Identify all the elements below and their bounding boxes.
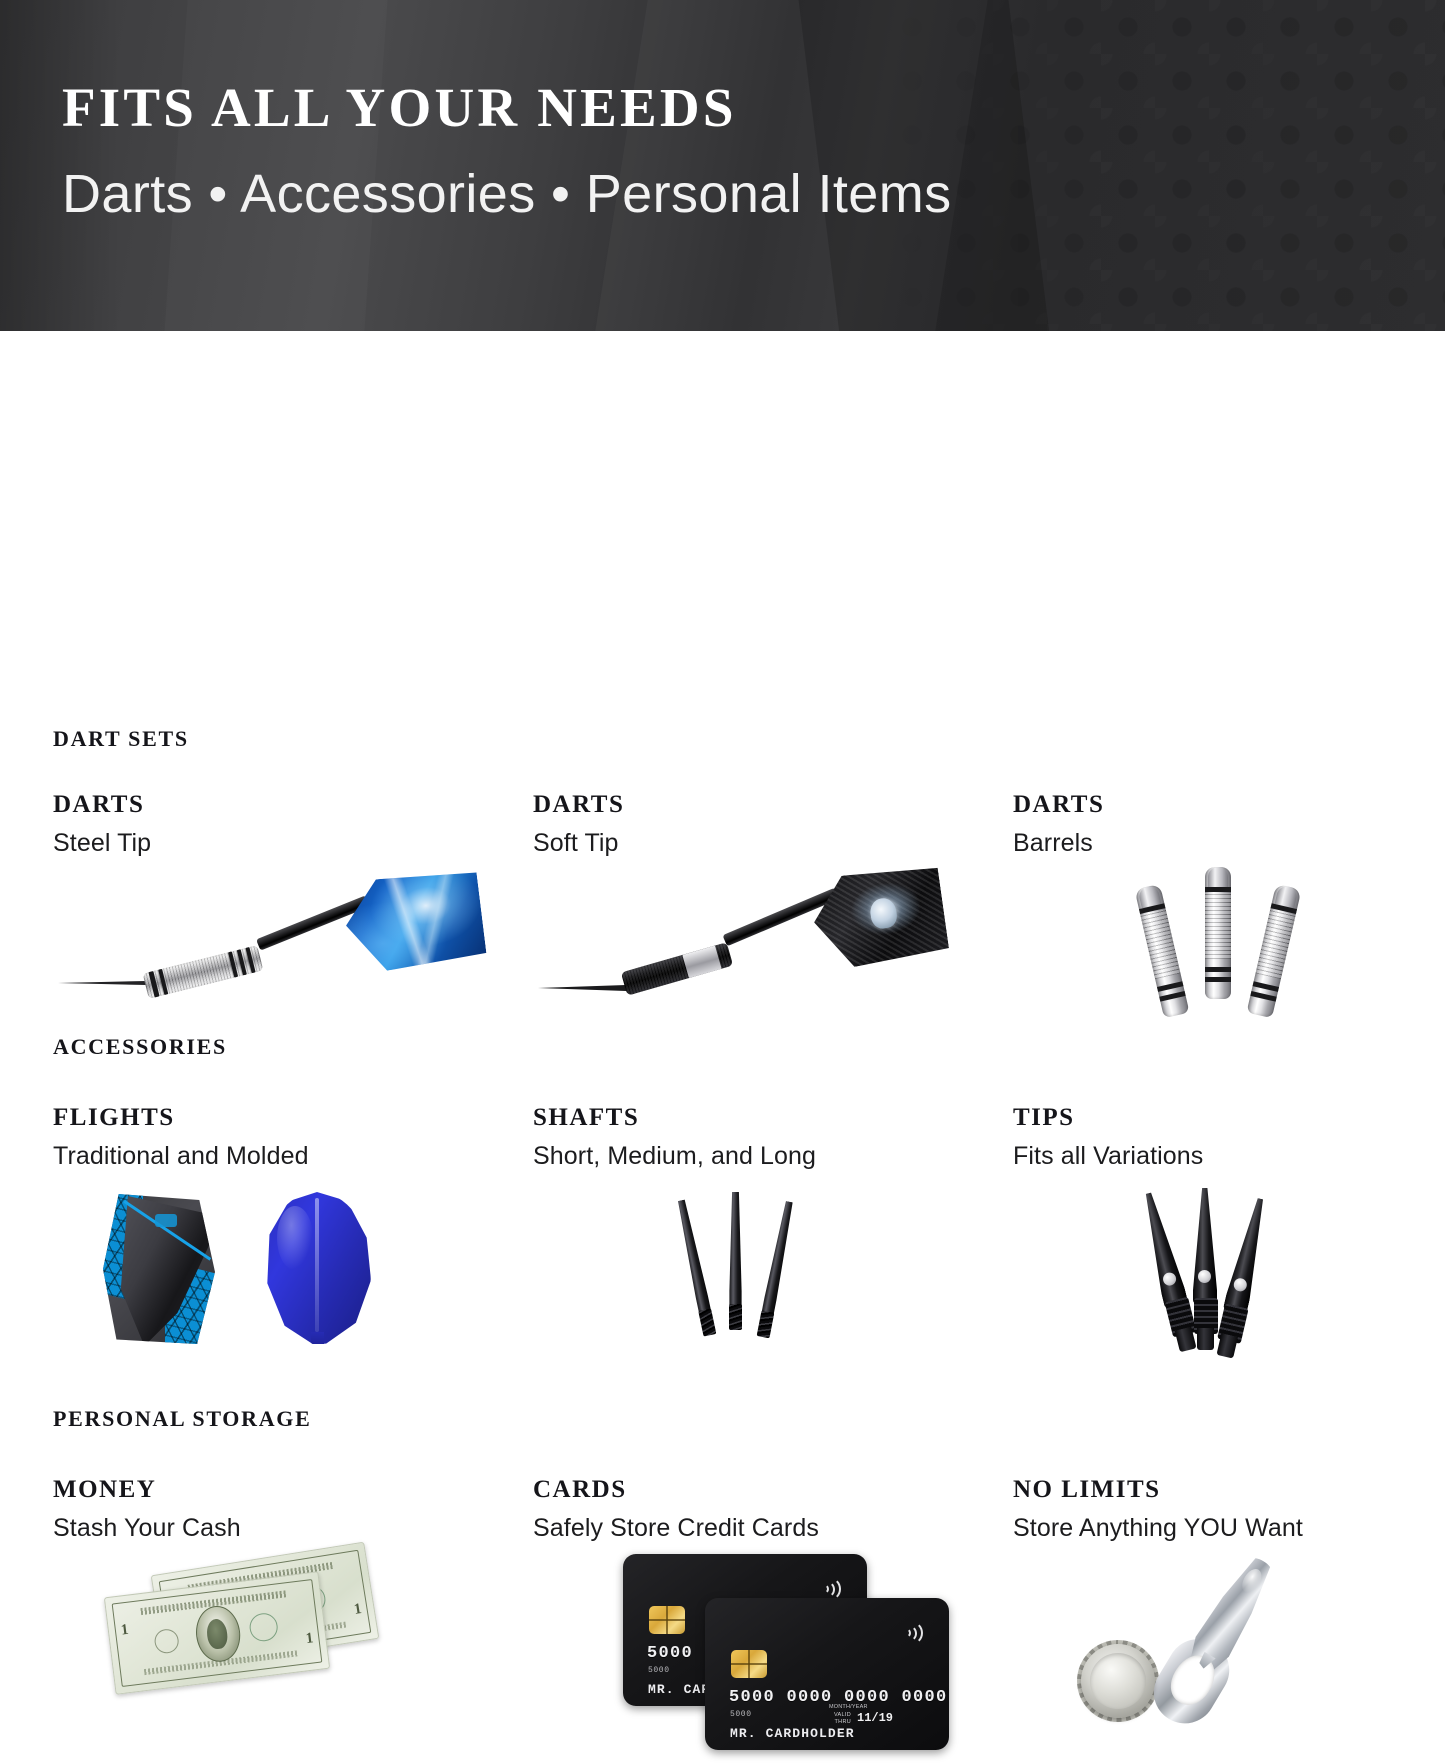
soft-tip-dart-image: [538, 871, 938, 1011]
hero-banner: FITS ALL YOUR NEEDS Darts • Accessories …: [0, 0, 1445, 331]
dart-barrel-part: [143, 945, 264, 999]
item-description: Barrels: [1013, 829, 1445, 858]
traditional-flight: [103, 1194, 215, 1344]
emv-chip-icon: [649, 1606, 685, 1634]
item-no-limits: NO LIMITS Store Anything YOU Want: [1013, 1476, 1445, 1543]
dart-tips-image: [1131, 1180, 1361, 1370]
dart-flight-part: [808, 862, 950, 971]
item-title: TIPS: [1013, 1104, 1445, 1132]
item-title: DARTS: [533, 791, 1003, 819]
item-steel-tip: DARTS Steel Tip: [53, 791, 523, 858]
card-bin: 5000: [648, 1666, 670, 1675]
item-title: CARDS: [533, 1476, 1003, 1504]
item-title: SHAFTS: [533, 1104, 1003, 1132]
item-description: Store Anything YOU Want: [1013, 1514, 1445, 1543]
item-soft-tip: DARTS Soft Tip: [533, 791, 1003, 858]
item-money: MONEY Stash Your Cash 1 1 1 1: [53, 1476, 523, 1543]
dart-shafts-image: [671, 1182, 891, 1362]
item-tips: TIPS Fits all Variations: [1013, 1104, 1445, 1171]
credit-card-front: 5000 0000 0000 0000 5000 MONTH/YEAR VALI…: [705, 1598, 949, 1750]
item-title: DARTS: [1013, 791, 1445, 819]
card-expiry-date: 11/19: [857, 1711, 893, 1725]
item-description: Traditional and Molded: [53, 1142, 523, 1171]
steel-tip-dart-image: [58, 871, 478, 1011]
item-description: Stash Your Cash: [53, 1514, 523, 1543]
item-title: FLIGHTS: [53, 1104, 523, 1132]
contactless-icon: [821, 1574, 845, 1600]
bottle-opener-image: [1079, 1548, 1379, 1748]
hero-text-block: FITS ALL YOUR NEEDS Darts • Accessories …: [62, 78, 952, 225]
molded-flight: [263, 1192, 371, 1344]
credit-cards-image: 5000 0000 5000 MR. CARDHOLDER 5000 0000 …: [623, 1554, 963, 1764]
section-heading-dart-sets: DART SETS: [53, 726, 189, 752]
card-bin: 5000: [730, 1710, 752, 1719]
item-title: MONEY: [53, 1476, 523, 1504]
item-description: Safely Store Credit Cards: [533, 1514, 1003, 1543]
barrel-piece: [1246, 884, 1301, 1018]
item-barrels: DARTS Barrels: [1013, 791, 1445, 858]
card-holder-name: MR. CARDHOLDER: [730, 1726, 855, 1741]
dart-flights-image: [93, 1186, 453, 1356]
item-description: Fits all Variations: [1013, 1142, 1445, 1171]
emv-chip-icon: [731, 1650, 767, 1678]
bottle-opener: [1142, 1545, 1290, 1736]
item-cards: CARDS Safely Store Credit Cards 5000 000…: [533, 1476, 1003, 1543]
dollar-bills-image: 1 1 1 1: [93, 1558, 423, 1708]
bottle-cap: [1081, 1644, 1155, 1718]
item-description: Short, Medium, and Long: [533, 1142, 1003, 1171]
item-description: Soft Tip: [533, 829, 1003, 858]
dart-flight-part: [341, 867, 487, 975]
dart-barrels-image: [1135, 861, 1365, 1031]
item-title: NO LIMITS: [1013, 1476, 1445, 1504]
section-heading-accessories: ACCESSORIES: [53, 1034, 227, 1060]
contactless-icon: [903, 1618, 927, 1644]
item-flights: FLIGHTS Traditional and Molded: [53, 1104, 523, 1171]
card-month-year-label: MONTH/YEAR: [829, 1704, 868, 1710]
item-description: Steel Tip: [53, 829, 523, 858]
barrel-piece: [1134, 884, 1189, 1018]
card-valid-thru-label: VALID THRU: [825, 1712, 851, 1726]
hero-pattern-texture: [885, 0, 1445, 331]
section-heading-personal-storage: PERSONAL STORAGE: [53, 1406, 311, 1432]
dart-barrel-part: [621, 942, 733, 995]
page-subtitle: Darts • Accessories • Personal Items: [62, 165, 952, 224]
barrel-piece: [1205, 867, 1231, 999]
item-title: DARTS: [53, 791, 523, 819]
dollar-bill: 1 1: [104, 1571, 330, 1695]
item-shafts: SHAFTS Short, Medium, and Long: [533, 1104, 1003, 1171]
page-title: FITS ALL YOUR NEEDS: [62, 78, 952, 137]
